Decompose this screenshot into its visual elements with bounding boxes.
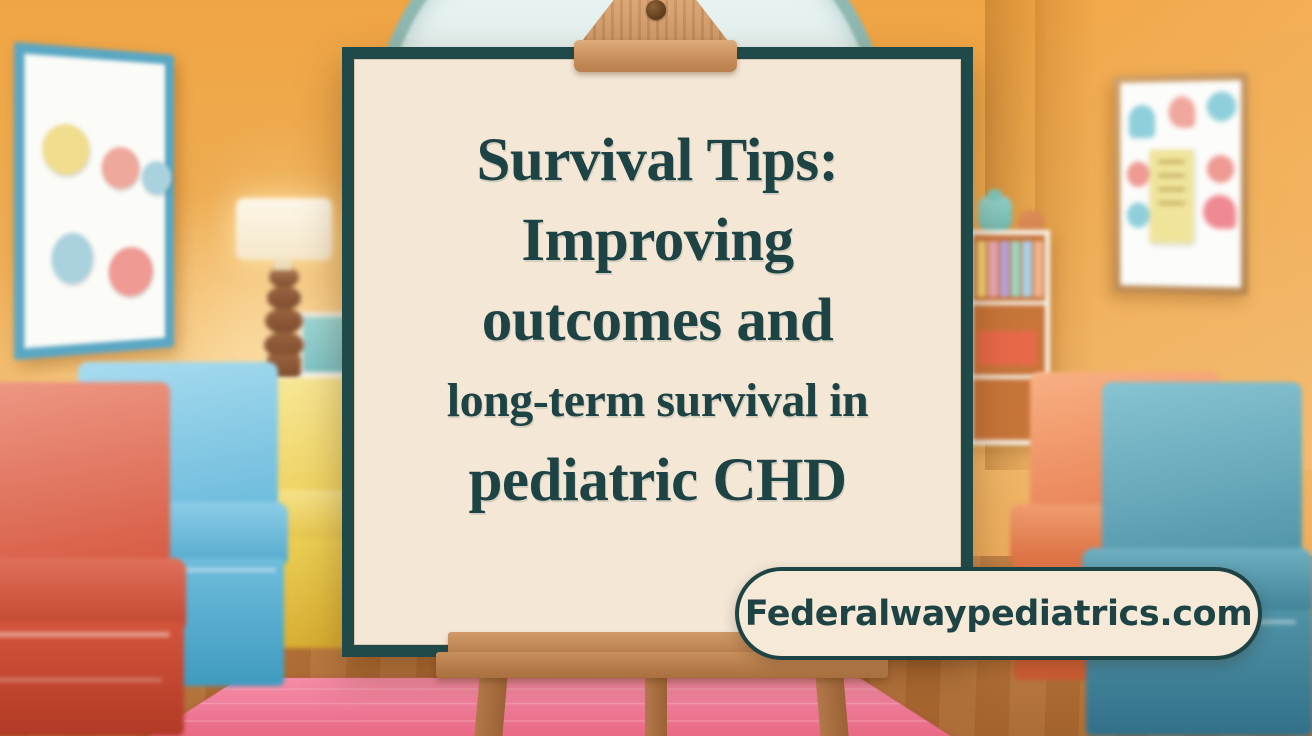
easel-leg-right	[815, 674, 849, 736]
website-url-text: Federalwaypediatrics.com	[745, 594, 1253, 634]
framed-shapes-poster	[1114, 73, 1248, 295]
lamp-base	[264, 266, 304, 376]
storage-box	[978, 331, 1036, 365]
chair-teal	[1078, 382, 1312, 736]
chair-coral	[0, 382, 230, 736]
poster-note	[1150, 149, 1194, 243]
poster-board: Survival Tips: Improving outcomes and lo…	[342, 47, 973, 657]
easel-leg-center	[645, 674, 667, 736]
easel-bolt	[646, 0, 666, 20]
easel-cap-bar	[574, 40, 737, 72]
headline-line-3: outcomes and	[342, 281, 973, 361]
headline-line-1: Survival Tips:	[342, 121, 973, 201]
poster-headline: Survival Tips: Improving outcomes and lo…	[342, 121, 973, 521]
poster-scene: Survival Tips: Improving outcomes and lo…	[0, 0, 1312, 736]
vase	[978, 196, 1012, 234]
website-badge[interactable]: Federalwaypediatrics.com	[735, 567, 1262, 660]
headline-line-5: pediatric CHD	[342, 441, 973, 521]
books	[977, 241, 1043, 297]
headline-line-2: Improving	[342, 201, 973, 281]
table-lamp	[236, 198, 332, 260]
easel-leg-left	[474, 674, 508, 736]
headline-line-4: long-term survival in	[342, 361, 973, 441]
framed-circles-art	[14, 42, 174, 360]
